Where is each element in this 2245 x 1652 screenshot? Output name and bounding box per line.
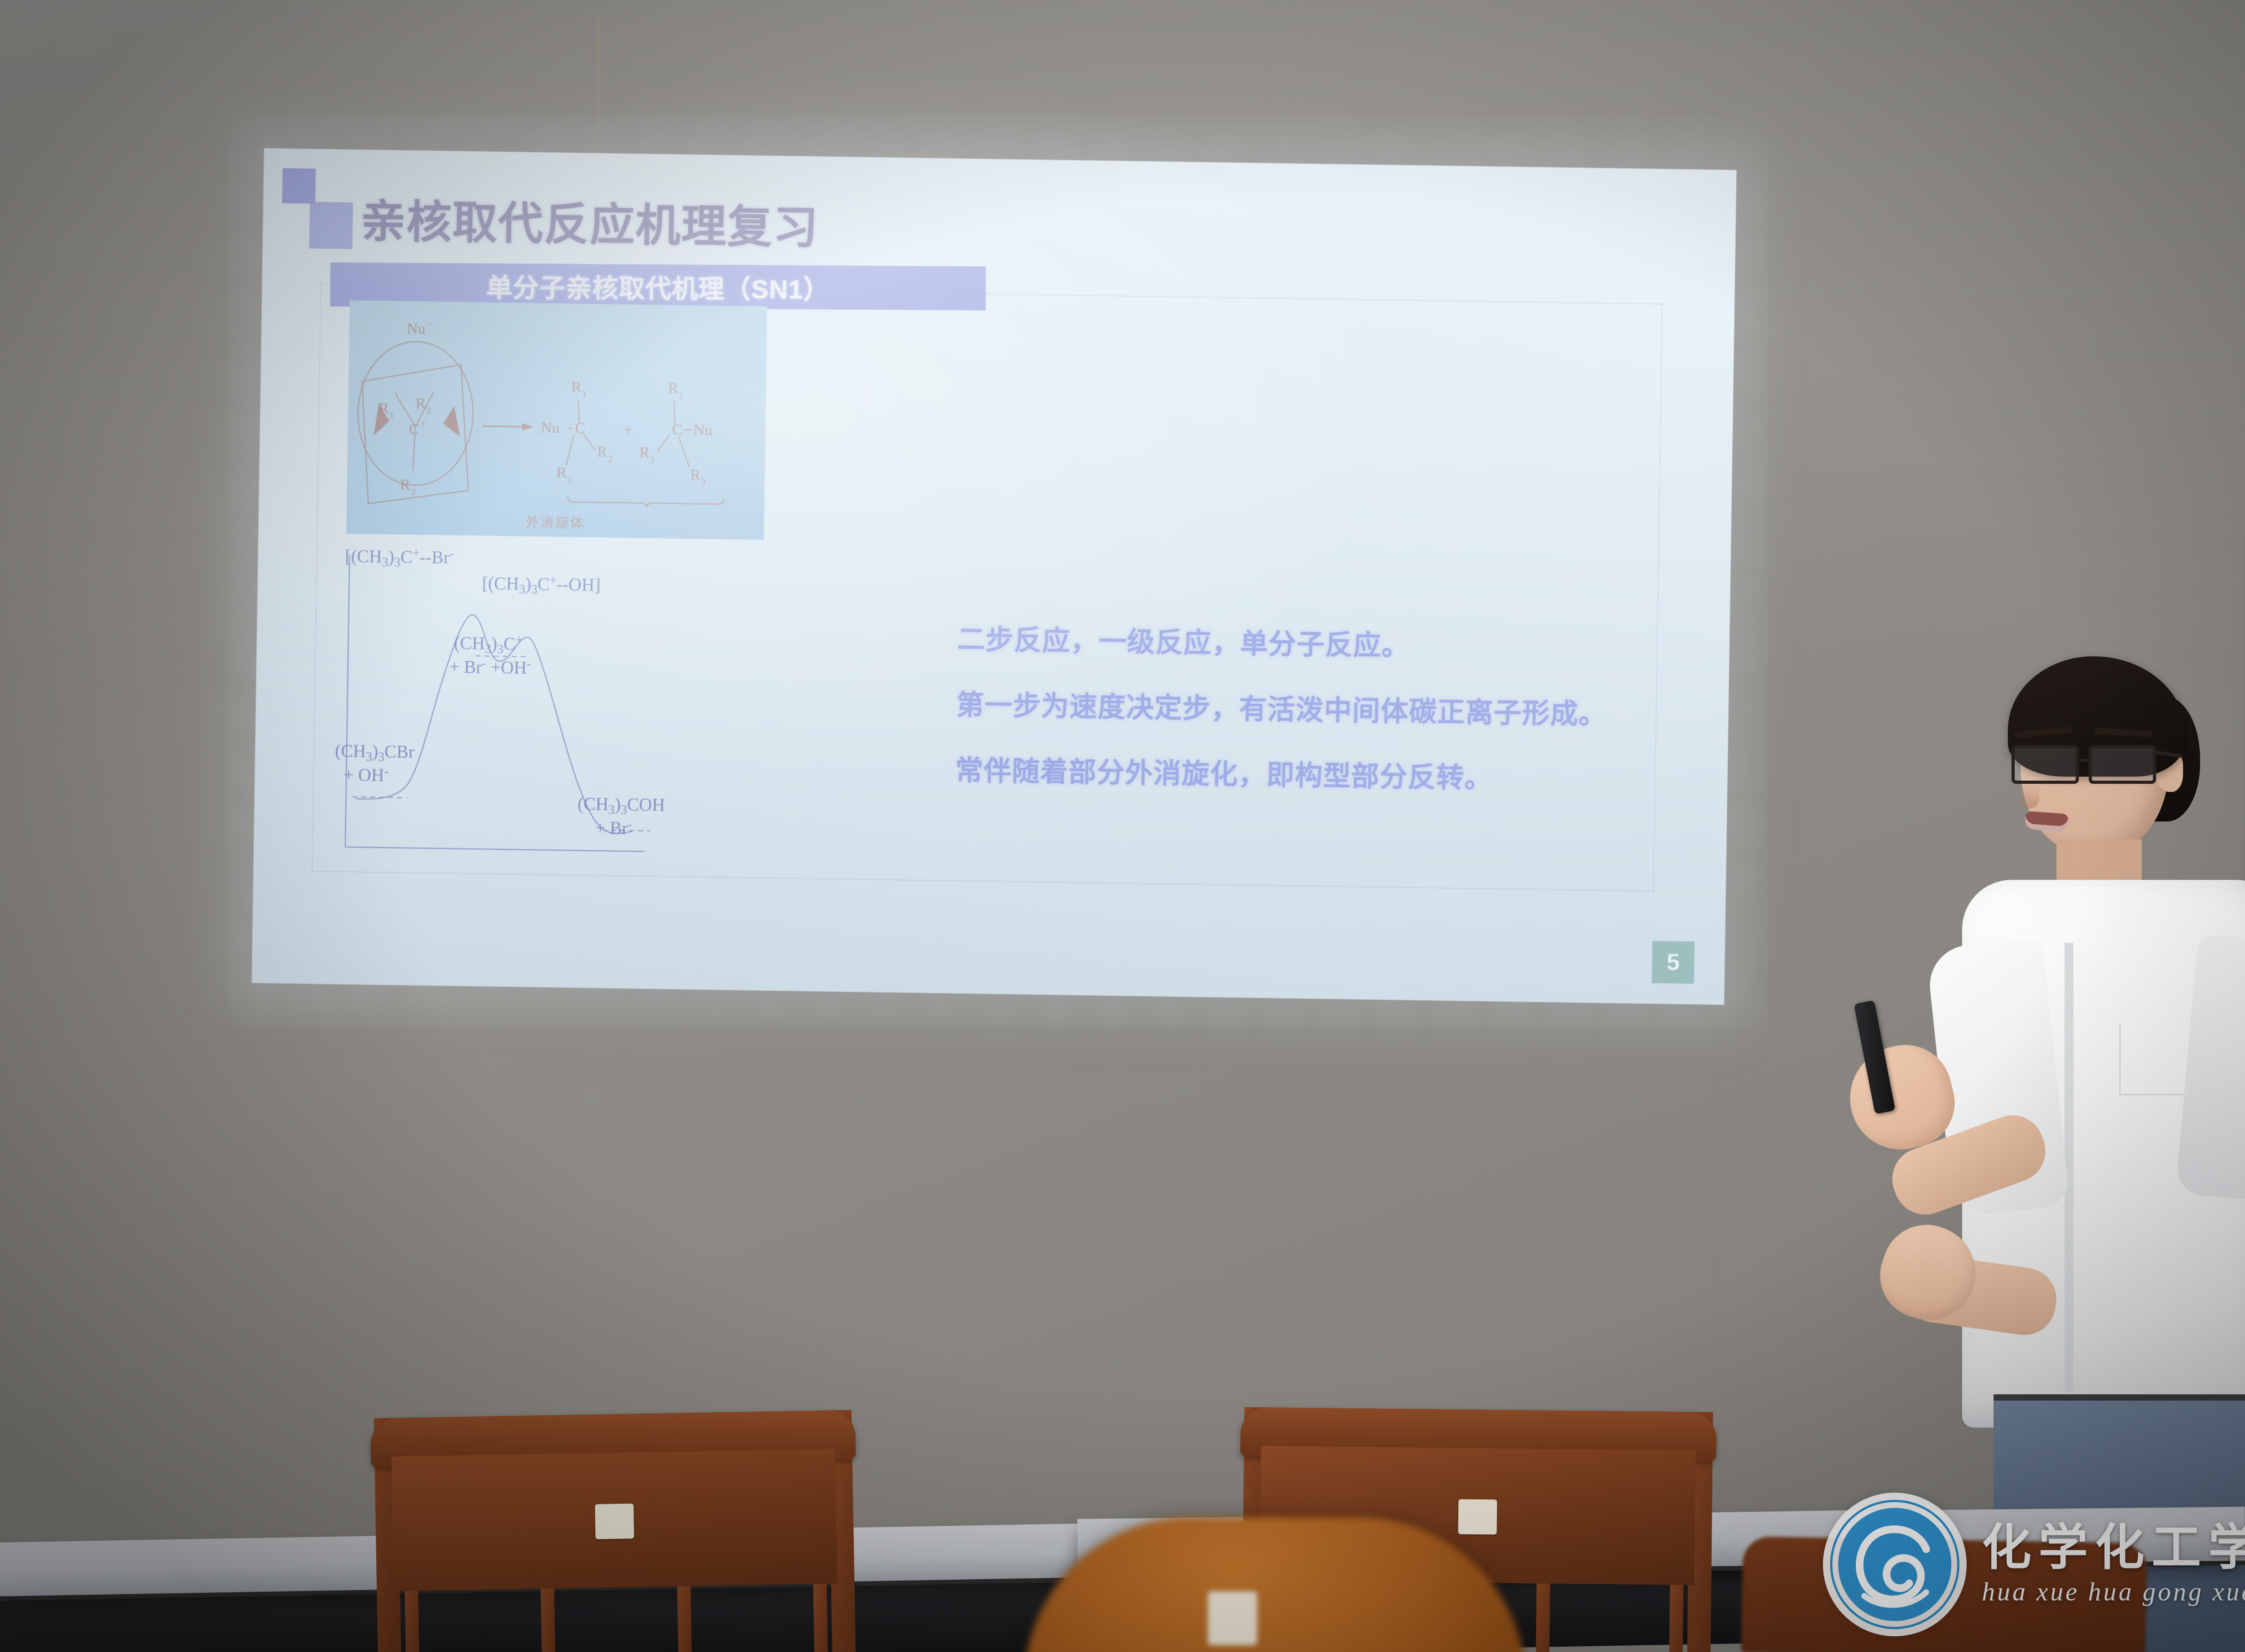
chair (370, 1410, 860, 1652)
energy-label-intermediate: (CH3)3C+ + Br- +OH- (445, 632, 532, 678)
svg-text:2: 2 (426, 405, 431, 416)
slide-number-badge: 5 (1652, 941, 1695, 984)
svg-text:3: 3 (410, 487, 415, 497)
svg-text:R: R (668, 380, 679, 396)
mechanism-drawing: Nu− R1 R2 R3 C+ Nu C R1 (346, 300, 767, 540)
chair-foreground-label-sticker (1208, 1591, 1257, 1645)
chair-slat (813, 1584, 828, 1652)
chair-slat (405, 1591, 420, 1652)
glasses-lens-right (2089, 745, 2156, 784)
svg-text:R: R (639, 444, 650, 461)
school-logo-icon (1823, 1493, 1967, 1636)
svg-text:Nu: Nu (541, 419, 560, 436)
svg-text:1: 1 (582, 389, 587, 400)
svg-text:Nu: Nu (407, 321, 426, 338)
svg-text:1: 1 (679, 390, 684, 401)
slide-bullet-list: 二步反应，一级反应，单分子反应。 第一步为速度决定步，有活泼中间体碳正离子形成。… (955, 616, 1658, 823)
watermark-pinyin: hua xue hua gong xue yuan (1982, 1577, 2245, 1607)
svg-text:R: R (415, 395, 426, 412)
energy-label-ts2: [(CH3)3C+--OH] (482, 572, 601, 598)
chair-label-sticker (595, 1503, 634, 1539)
bullet-item: 常伴随着部分外消旋化，即构型部分反转。 (955, 747, 1656, 798)
svg-text:+: + (421, 418, 427, 429)
watermark-text-block: 化学化工学院 hua xue hua gong xue yuan (1982, 1522, 2245, 1607)
presentation-slide: 亲核取代反应机理复习 单分子亲核取代机理（SN1） (251, 148, 1736, 1005)
svg-text:C: C (409, 421, 419, 438)
projected-slide-area: 亲核取代反应机理复习 单分子亲核取代机理（SN1） (251, 148, 1736, 1005)
energy-label-reactants: (CH3)3CBr + OH- (335, 740, 414, 786)
svg-text:2: 2 (650, 454, 655, 465)
svg-text:+: + (623, 421, 633, 439)
classroom-scene: 亲核取代反应机理复习 单分子亲核取代机理（SN1） (0, 0, 2245, 1652)
nose (2020, 785, 2039, 808)
bullet-item: 第一步为速度决定步，有活泼中间体碳正离子形成。 (956, 682, 1657, 733)
slide-title: 亲核取代反应机理复习 (361, 185, 819, 256)
chair-slat (677, 1586, 692, 1652)
glasses-lens-left (2012, 745, 2079, 784)
svg-text:2: 2 (608, 453, 613, 464)
energy-label-ts1: [(CH3)3C+--Br- (345, 545, 454, 571)
svg-text:R: R (400, 477, 411, 493)
svg-text:R: R (597, 444, 608, 460)
svg-text:C: C (672, 422, 682, 438)
svg-text:Nu: Nu (694, 422, 713, 439)
decoration-square-large (309, 202, 353, 249)
glasses-bridge (2079, 759, 2091, 762)
energy-label-products: (CH3)3COH + Br- (577, 793, 665, 839)
svg-text:3: 3 (567, 475, 572, 485)
chair-slat (541, 1588, 556, 1652)
svg-text:3: 3 (701, 477, 706, 488)
svg-text:R: R (571, 378, 582, 395)
svg-text:−: − (427, 320, 432, 330)
svg-text:R: R (556, 465, 567, 481)
chair-slat (1669, 1585, 1684, 1652)
svg-text:1: 1 (389, 410, 394, 421)
mechanism-figure: Nu− R1 R2 R3 C+ Nu C R1 (346, 300, 767, 540)
watermark-chinese: 化学化工学院 (1982, 1522, 2245, 1574)
chair-slats (405, 1584, 828, 1652)
chair-slat (1536, 1583, 1550, 1652)
mouth (2025, 811, 2069, 832)
svg-text:R: R (690, 466, 701, 483)
chair-label-sticker (1458, 1499, 1497, 1535)
logo-spiral-e-icon (1838, 1508, 1951, 1621)
decoration-square-small (282, 168, 316, 204)
glasses (2012, 745, 2164, 786)
svg-text:R: R (379, 400, 389, 417)
watermark: 化学化工学院 hua xue hua gong xue yuan (1823, 1477, 2245, 1652)
title-decoration-squares (282, 168, 359, 246)
energy-profile-diagram: [(CH3)3C+--Br- [(CH3)3C+--OH] (CH3)3C+ +… (330, 547, 792, 868)
